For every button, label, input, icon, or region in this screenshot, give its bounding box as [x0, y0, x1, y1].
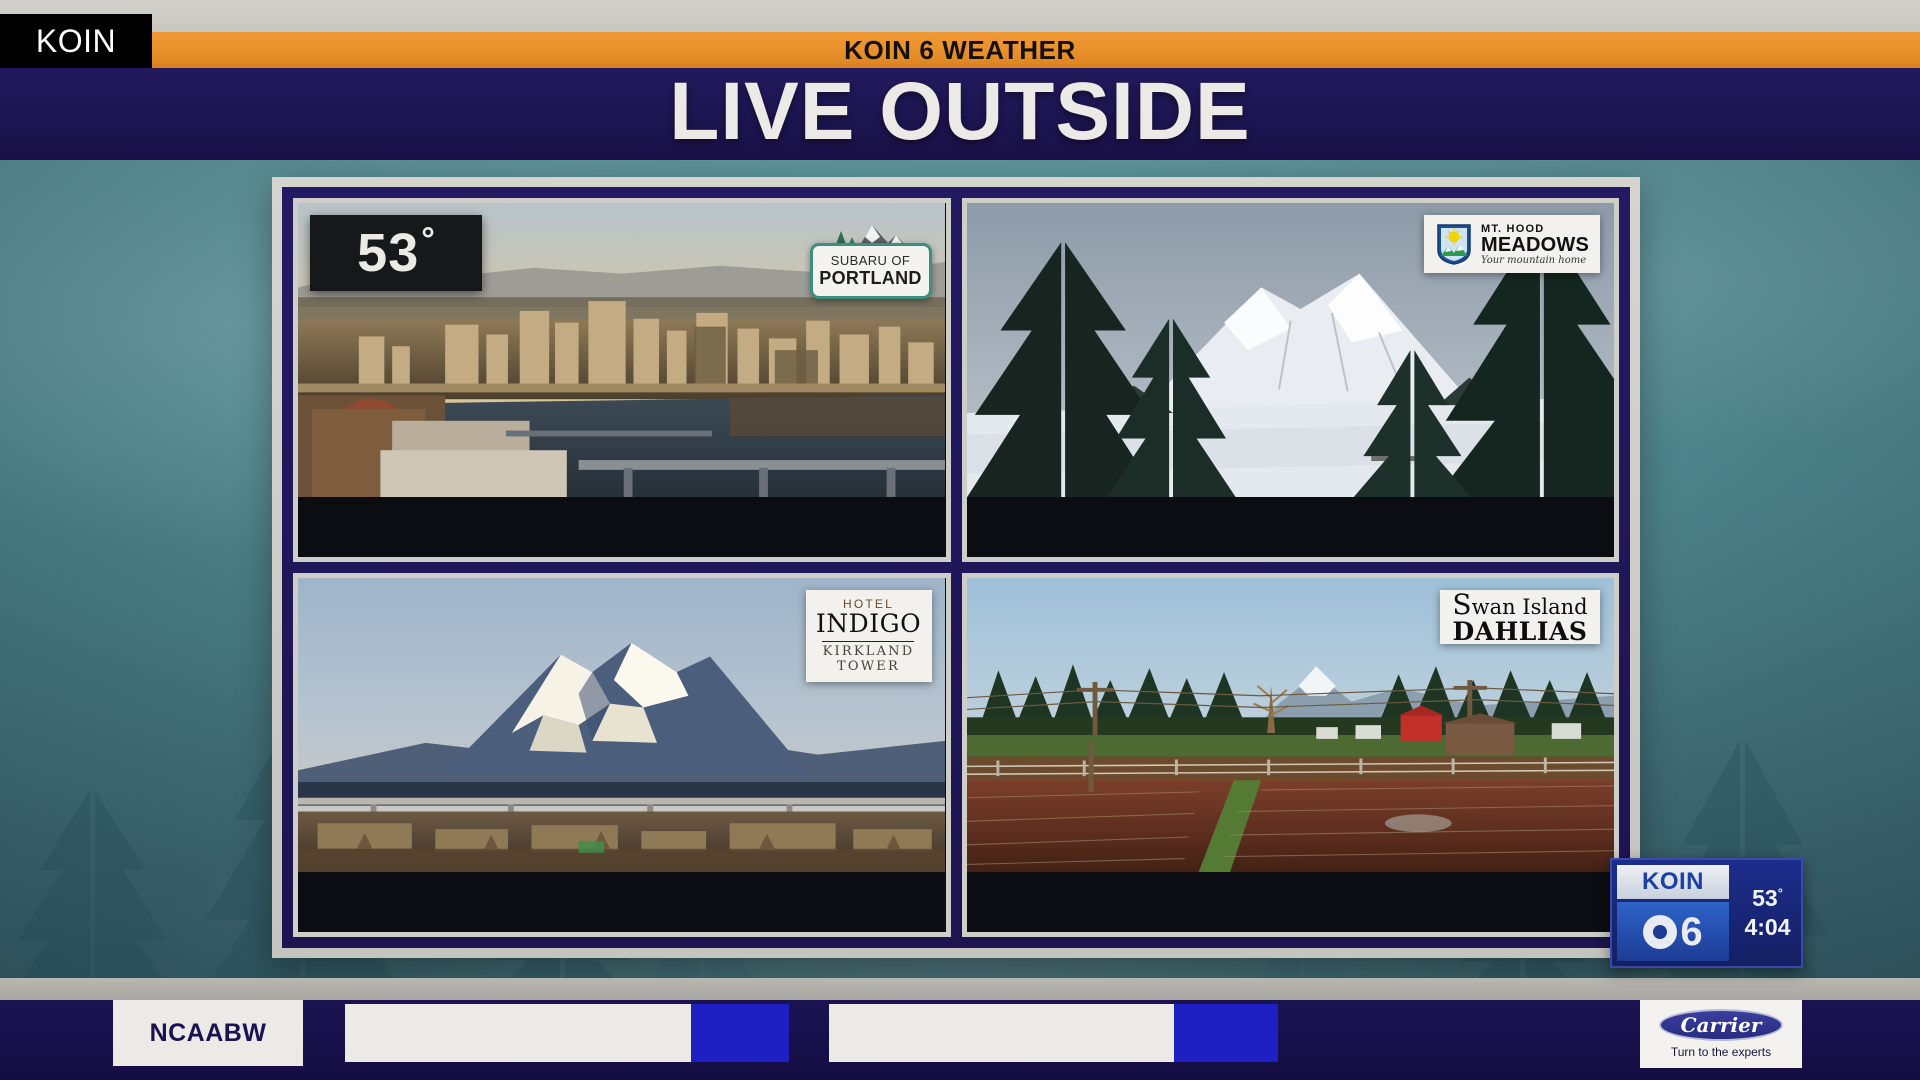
station-bug: KOIN 6 53° 4:04 [1610, 858, 1803, 968]
sponsor-plate-subaru: SUBARU OF PORTLAND [810, 243, 932, 299]
divider [822, 641, 914, 642]
sponsor-text-block: MT. HOOD MEADOWS Your mountain home [1481, 223, 1589, 266]
sponsor-badge-hotel-indigo: HOTEL INDIGO KIRKLAND TOWER [806, 590, 932, 682]
ticker-score-slot-1[interactable] [345, 1004, 789, 1062]
bug-temperature: 53° [1752, 885, 1783, 912]
sponsor-line-1: SUBARU OF [831, 253, 910, 268]
sponsor-badge-mt-hood-meadows: MT. HOOD MEADOWS Your mountain home [1424, 215, 1600, 273]
sponsor-line-1: MT. HOOD [1481, 223, 1544, 235]
sponsor-line-2: DAHLIAS [1453, 619, 1588, 644]
sponsor-text-block: HOTEL INDIGO KIRKLAND TOWER [816, 597, 921, 674]
ticker-team-name-1 [345, 1004, 691, 1062]
sponsor-badge-subaru: SUBARU OF PORTLAND [810, 213, 932, 299]
station-bug-logo: KOIN 6 [1612, 860, 1734, 966]
camera-tile-portland-skyline[interactable]: 53 ° SUBARU OF PORTLAND [293, 198, 951, 562]
channel-number: 6 [1680, 912, 1702, 952]
camera-grid-frame: 53 ° SUBARU OF PORTLAND [272, 177, 1640, 958]
sponsor-line-4: TOWER [837, 660, 900, 675]
bug-clock: 4:04 [1744, 914, 1790, 941]
camera-tile-mt-hood-meadows[interactable]: MT. HOOD MEADOWS Your mountain home [962, 198, 1620, 562]
cbs-eye-icon [1643, 915, 1677, 949]
temperature-badge: 53 ° [310, 215, 482, 291]
ticker-league-label: NCAABW [113, 1000, 303, 1066]
sponsor-line-3: KIRKLAND [823, 645, 915, 660]
top-grey-strip [0, 0, 1920, 32]
station-tag: KOIN [0, 14, 152, 68]
station-bug-channel: 6 [1617, 902, 1729, 961]
ticker-top-strip [0, 978, 1920, 1000]
sponsor-badge-swan-island-dahlias: Swan Island DAHLIAS [1440, 590, 1600, 644]
mountain-sun-shield-icon [1435, 222, 1473, 266]
sports-ticker: NCAABW Carrier Turn to the experts [0, 978, 1920, 1080]
page-title: LIVE OUTSIDE [0, 62, 1920, 162]
ticker-team-name-2 [829, 1004, 1174, 1062]
sponsor-line-2: PORTLAND [819, 268, 921, 289]
station-bug-call-letters: KOIN [1617, 865, 1729, 899]
broadcast-screen: KOIN 6 WEATHER KOIN LIVE OUTSIDE [0, 0, 1920, 1080]
sponsor-tagline: Your mountain home [1481, 255, 1586, 266]
station-bug-info: 53° 4:04 [1734, 860, 1801, 966]
ticker-team-score-1 [691, 1004, 789, 1062]
sponsor-line-1: Swan Island [1452, 591, 1587, 619]
sponsor-line-2: MEADOWS [1481, 235, 1589, 255]
camera-tile-swan-island-dahlias[interactable]: Swan Island DAHLIAS [962, 573, 1620, 937]
camera-tile-hotel-indigo[interactable]: HOTEL INDIGO KIRKLAND TOWER [293, 573, 951, 937]
degree-symbol: ° [421, 221, 435, 260]
ticker-score-slot-2[interactable] [829, 1004, 1278, 1062]
temperature-value: 53 [357, 222, 419, 284]
ticker-team-score-2 [1174, 1004, 1278, 1062]
carrier-logo: Carrier [1659, 1009, 1783, 1041]
ticker-sponsor-carrier: Carrier Turn to the experts [1640, 1000, 1802, 1068]
camera-grid: 53 ° SUBARU OF PORTLAND [282, 187, 1630, 948]
carrier-tagline: Turn to the experts [1671, 1045, 1771, 1059]
sponsor-line-2: INDIGO [816, 611, 921, 637]
